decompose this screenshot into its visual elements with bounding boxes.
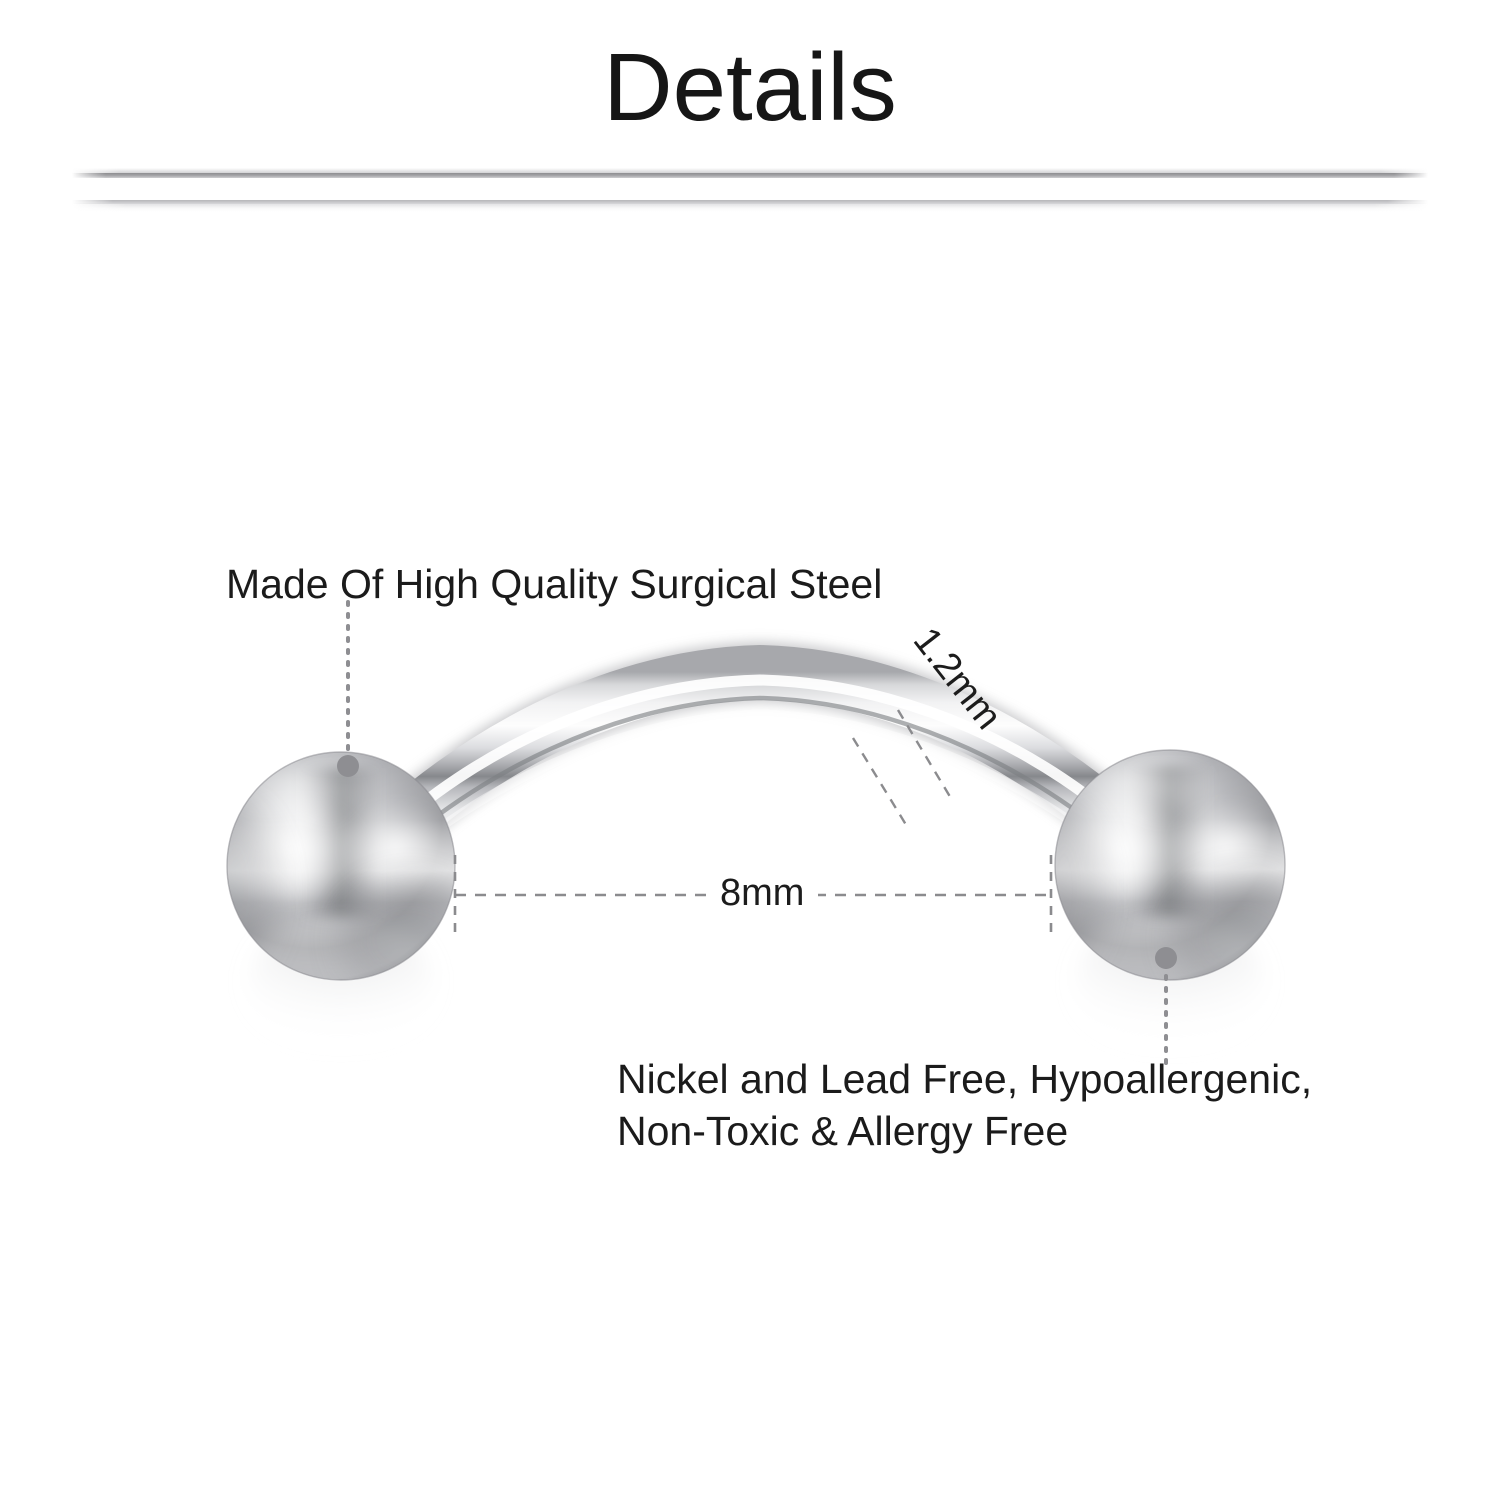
divider-top-core [72, 173, 1428, 178]
divider-line-bottom [72, 200, 1428, 212]
callout-leader-top [337, 602, 359, 777]
page-title: Details [0, 38, 1500, 139]
divider-line-top [72, 168, 1428, 177]
product-detail-canvas: Details Made Of High Quality Surgical St… [0, 0, 1500, 1500]
callout-dot-top [337, 755, 359, 777]
divider-bottom-glow [72, 203, 1428, 212]
barbell-bar [372, 672, 1148, 874]
product-illustration [0, 560, 1500, 1080]
dimension-label-8mm: 8mm [706, 872, 818, 915]
